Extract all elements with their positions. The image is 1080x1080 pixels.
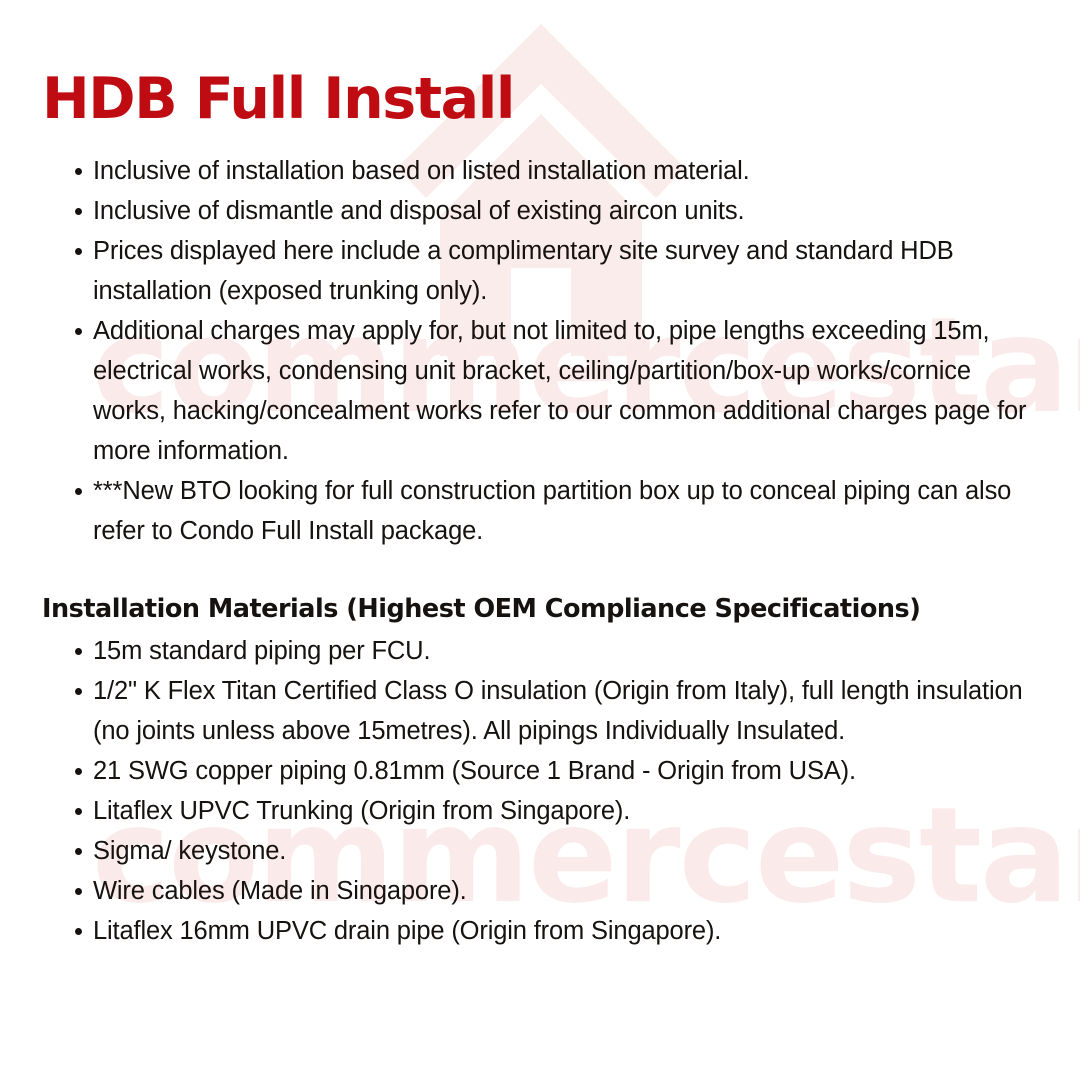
intro-bullet-list: Inclusive of installation based on liste… [42,151,1038,551]
list-item: Litaflex 16mm UPVC drain pipe (Origin fr… [42,911,1038,951]
list-item: 1/2" K Flex Titan Certified Class O insu… [42,671,1038,751]
flyer-page: HDB Full Install Inclusive of installati… [0,0,1080,1080]
list-item: Prices displayed here include a complime… [42,231,1038,311]
list-item: Inclusive of dismantle and disposal of e… [42,191,1038,231]
materials-bullet-list: 15m standard piping per FCU. 1/2" K Flex… [42,631,1038,951]
materials-section-heading: Installation Materials (Highest OEM Comp… [42,551,1038,629]
list-item: Additional charges may apply for, but no… [42,311,1038,471]
list-item: Sigma/ keystone. [42,831,1038,871]
page-title: HDB Full Install [42,0,1038,130]
list-item: Inclusive of installation based on liste… [42,151,1038,191]
list-item: ***New BTO looking for full construction… [42,471,1038,551]
list-item: Litaflex UPVC Trunking (Origin from Sing… [42,791,1038,831]
list-item: 15m standard piping per FCU. [42,631,1038,671]
list-item: 21 SWG copper piping 0.81mm (Source 1 Br… [42,751,1038,791]
list-item: Wire cables (Made in Singapore). [42,871,1038,911]
